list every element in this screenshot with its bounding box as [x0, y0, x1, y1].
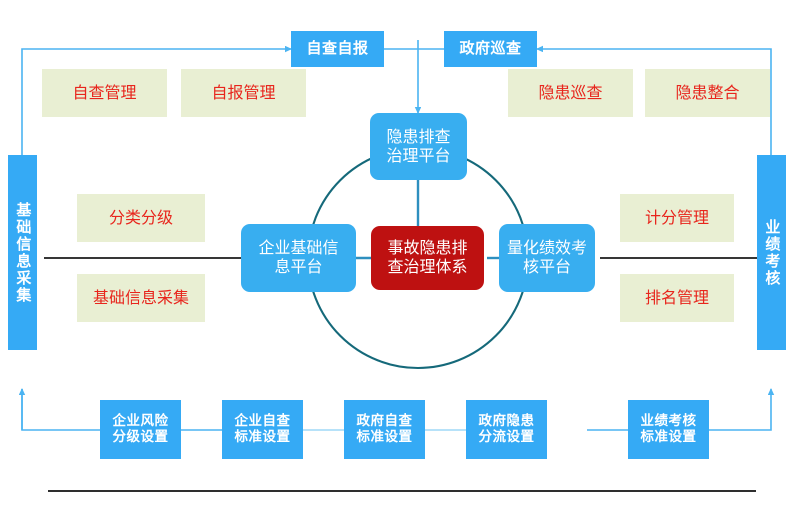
green-box-label: 基础信息采集: [93, 289, 189, 308]
side-bar-label: 业绩考核: [763, 219, 781, 287]
green-box-label: 自查管理: [72, 84, 136, 103]
core-node-line2: 息平台: [274, 258, 322, 277]
top-flow-self-check-self-report[interactable]: 自查自报: [291, 31, 384, 67]
core-node-line1: 量化绩效考: [507, 239, 587, 258]
green-box-basic-info-collection: 基础信息采集: [77, 274, 205, 322]
core-node-line1: 事故隐患排: [387, 239, 467, 258]
bottom-setting-line2: 标准设置: [641, 430, 697, 446]
green-box-label: 自报管理: [211, 84, 275, 103]
bottom-setting-government-hazard-diversion[interactable]: 政府隐患 分流设置: [466, 400, 547, 459]
bottom-setting-government-self-check-standard[interactable]: 政府自查 标准设置: [344, 400, 425, 459]
green-box-hazard-consolidation: 隐患整合: [645, 69, 770, 117]
bottom-setting-line1: 政府隐患: [479, 414, 535, 430]
top-flow-label: 自查自报: [306, 40, 368, 58]
diagram-canvas: 自查自报 政府巡查 自查管理 自报管理 隐患巡查 隐患整合 分类分级 基础信息采…: [0, 0, 793, 512]
bottom-setting-line1: 企业自查: [235, 414, 291, 430]
green-box-label: 分类分级: [109, 209, 173, 228]
core-node-line1: 企业基础信: [258, 239, 338, 258]
green-box-score-management: 计分管理: [620, 194, 734, 242]
core-node-accident-hazard-system[interactable]: 事故隐患排 查治理体系: [371, 226, 484, 290]
core-node-hazard-investigation-platform[interactable]: 隐患排查 治理平台: [370, 113, 467, 180]
wire-top-pair-to-platform: [384, 40, 447, 113]
side-bar-performance-assessment[interactable]: 业绩考核: [757, 155, 786, 350]
green-box-hazard-inspection: 隐患巡查: [508, 69, 633, 117]
bottom-setting-line1: 企业风险: [113, 414, 169, 430]
bottom-setting-line2: 分级设置: [113, 430, 169, 446]
core-node-line2: 查治理体系: [387, 258, 467, 277]
green-box-label: 隐患整合: [675, 84, 739, 103]
top-flow-government-inspection[interactable]: 政府巡查: [444, 31, 537, 67]
bottom-setting-line2: 标准设置: [235, 430, 291, 446]
green-box-classification-grading: 分类分级: [77, 194, 205, 242]
green-box-ranking-management: 排名管理: [620, 274, 734, 322]
green-box-label: 计分管理: [645, 209, 709, 228]
bottom-setting-enterprise-risk-grading[interactable]: 企业风险 分级设置: [100, 400, 181, 459]
bottom-setting-line2: 分流设置: [479, 430, 535, 446]
core-node-enterprise-basic-info-platform[interactable]: 企业基础信 息平台: [241, 224, 356, 292]
core-node-line2: 核平台: [523, 258, 571, 277]
side-bar-label: 基础信息采集: [14, 202, 32, 304]
bottom-setting-performance-assessment-standard[interactable]: 业绩考核 标准设置: [628, 400, 709, 459]
top-flow-label: 政府巡查: [459, 40, 521, 58]
bottom-setting-line1: 业绩考核: [641, 414, 697, 430]
green-box-self-report-management: 自报管理: [181, 69, 306, 117]
core-node-quantified-performance-platform[interactable]: 量化绩效考 核平台: [499, 224, 595, 292]
bottom-setting-enterprise-self-check-standard[interactable]: 企业自查 标准设置: [222, 400, 303, 459]
green-box-label: 隐患巡查: [538, 84, 602, 103]
green-box-label: 排名管理: [645, 289, 709, 308]
core-node-line1: 隐患排查: [386, 128, 450, 147]
side-bar-basic-info-collection[interactable]: 基础信息采集: [8, 155, 37, 350]
bottom-setting-line1: 政府自查: [357, 414, 413, 430]
green-box-self-check-management: 自查管理: [42, 69, 167, 117]
core-node-line2: 治理平台: [386, 147, 450, 166]
bottom-setting-line2: 标准设置: [357, 430, 413, 446]
